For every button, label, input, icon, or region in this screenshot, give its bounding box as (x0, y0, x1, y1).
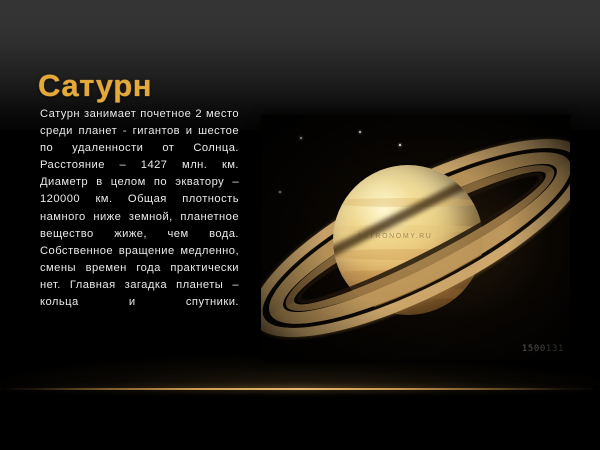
saturn-photograph: ASTRONOMY.RU 1500131 (261, 115, 570, 360)
body-paragraph: Сатурн занимает почетное 2 место среди п… (40, 106, 239, 328)
saturn-globe (333, 165, 483, 315)
star-point (359, 131, 361, 133)
gold-divider-rule (0, 388, 600, 390)
image-watermark-center: ASTRONOMY.RU (357, 233, 432, 240)
image-watermark-corner: 1500131 (522, 344, 564, 354)
star-point (300, 137, 302, 139)
atmospheric-band (333, 288, 483, 299)
presentation-slide: Сатурн Сатурн занимает почетное 2 место … (0, 0, 600, 450)
atmospheric-band (333, 249, 483, 260)
page-title: Сатурн (38, 67, 152, 105)
atmospheric-band (333, 270, 483, 279)
